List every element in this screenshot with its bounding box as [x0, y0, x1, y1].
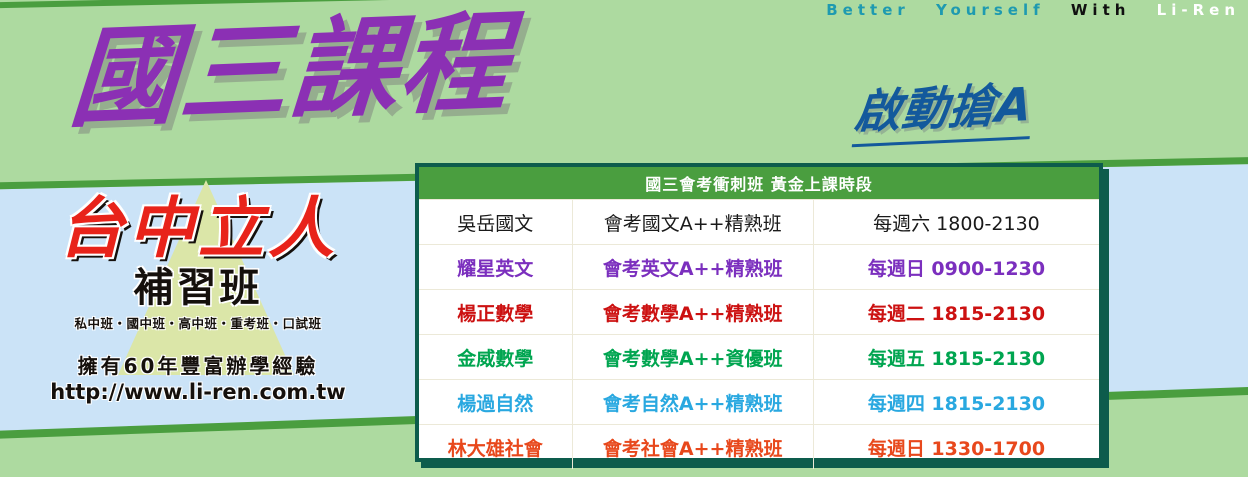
- table-row: 吳岳國文會考國文A++精熟班每週六 1800-2130: [419, 200, 1099, 245]
- schedule-cell-time: 每週四 1815-2130: [813, 380, 1099, 425]
- table-row: 金威數學會考數學A++資優班每週五 1815-2130: [419, 335, 1099, 380]
- table-row: 耀星英文會考英文A++精熟班每週日 0900-1230: [419, 245, 1099, 290]
- schedule-cell-course: 會考英文A++精熟班: [572, 245, 813, 290]
- schedule-cell-teacher: 耀星英文: [419, 245, 572, 290]
- tagline: Better Yourself With Li-Ren: [826, 1, 1240, 19]
- schedule-cell-teacher: 林大雄社會: [419, 425, 572, 470]
- schedule-cell-course: 會考數學A++資優班: [572, 335, 813, 380]
- brand-experience: 擁有60年豐富辦學經驗: [18, 350, 378, 379]
- table-row: 楊過自然會考自然A++精熟班每週四 1815-2130: [419, 380, 1099, 425]
- schedule-cell-teacher: 楊過自然: [419, 380, 572, 425]
- schedule-cell-time: 每週二 1815-2130: [813, 290, 1099, 335]
- tagline-word-liren: Li-Ren: [1157, 1, 1240, 19]
- table-row: 林大雄社會會考社會A++精熟班每週日 1330-1700: [419, 425, 1099, 470]
- schedule-cell-course: 會考社會A++精熟班: [572, 425, 813, 470]
- schedule-cell-time: 每週六 1800-2130: [813, 200, 1099, 245]
- schedule-table-body: 吳岳國文會考國文A++精熟班每週六 1800-2130耀星英文會考英文A++精熟…: [419, 200, 1099, 470]
- brand-name-suffix: 補習班: [18, 268, 378, 308]
- schedule-table-container: 國三會考衝刺班 黃金上課時段 吳岳國文會考國文A++精熟班每週六 1800-21…: [415, 163, 1103, 462]
- tagline-word-with: With: [1071, 1, 1131, 19]
- schedule-cell-teacher: 楊正數學: [419, 290, 572, 335]
- brand-name: 台中立人: [18, 196, 378, 262]
- table-row: 楊正數學會考數學A++精熟班每週二 1815-2130: [419, 290, 1099, 335]
- schedule-cell-teacher: 金威數學: [419, 335, 572, 380]
- page-subtitle: 啟動搶A: [852, 68, 1036, 147]
- page-title: 國三課程: [66, 0, 514, 144]
- poster-root: Better Yourself With Li-Ren 國三課程 啟動搶A 台中…: [0, 0, 1248, 477]
- schedule-table: 國三會考衝刺班 黃金上課時段 吳岳國文會考國文A++精熟班每週六 1800-21…: [419, 167, 1099, 469]
- schedule-cell-course: 會考數學A++精熟班: [572, 290, 813, 335]
- tagline-word-better: Better: [826, 1, 910, 19]
- schedule-cell-time: 每週日 1330-1700: [813, 425, 1099, 470]
- schedule-cell-time: 每週五 1815-2130: [813, 335, 1099, 380]
- schedule-table-header-row: 國三會考衝刺班 黃金上課時段: [419, 167, 1099, 200]
- brand-class-types: 私中班・國中班・高中班・重考班・口試班: [18, 313, 378, 332]
- tagline-word-yourself: Yourself: [936, 1, 1045, 19]
- brand-website-url[interactable]: http://www.li-ren.com.tw: [18, 380, 378, 404]
- brand-logo: 台中立人 補習班 私中班・國中班・高中班・重考班・口試班 擁有60年豐富辦學經驗…: [18, 196, 378, 404]
- schedule-cell-course: 會考國文A++精熟班: [572, 200, 813, 245]
- schedule-cell-teacher: 吳岳國文: [419, 200, 572, 245]
- schedule-cell-time: 每週日 0900-1230: [813, 245, 1099, 290]
- schedule-cell-course: 會考自然A++精熟班: [572, 380, 813, 425]
- schedule-table-header: 國三會考衝刺班 黃金上課時段: [419, 167, 1099, 200]
